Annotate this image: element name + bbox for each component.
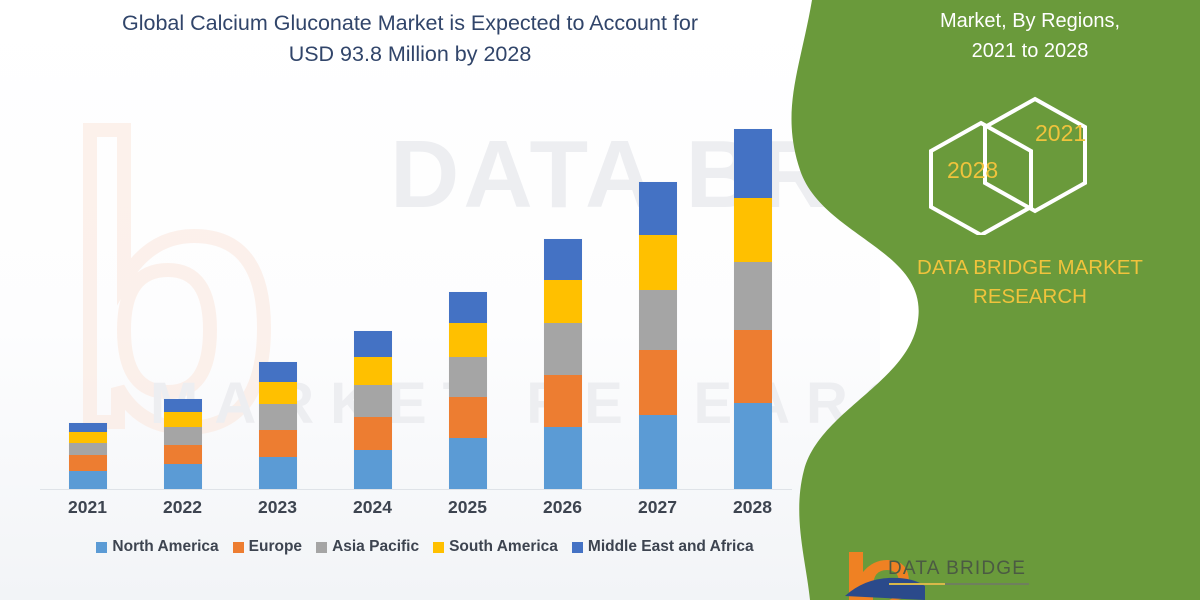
bar-group <box>40 100 800 489</box>
bar-column-2026 <box>518 100 608 489</box>
bar-segment-south-america[interactable] <box>354 357 392 385</box>
bar-segment-europe[interactable] <box>69 455 107 470</box>
bar-segment-europe[interactable] <box>354 417 392 451</box>
x-axis-label-2022: 2022 <box>138 497 228 518</box>
bar-segment-south-america[interactable] <box>639 235 677 290</box>
stacked-bar[interactable] <box>449 292 487 489</box>
bar-segment-middle-east-and-africa[interactable] <box>449 292 487 323</box>
bar-segment-middle-east-and-africa[interactable] <box>354 331 392 358</box>
stacked-bar[interactable] <box>354 331 392 489</box>
bar-segment-north-america[interactable] <box>639 415 677 489</box>
legend-item-south-america[interactable]: South America <box>433 538 558 556</box>
right-panel-heading-line-1: Market, By Regions, <box>940 10 1120 32</box>
legend-item-asia-pacific[interactable]: Asia Pacific <box>316 538 419 556</box>
x-axis-label-2024: 2024 <box>328 497 418 518</box>
x-axis-label-2023: 2023 <box>233 497 323 518</box>
bar-segment-north-america[interactable] <box>544 427 582 489</box>
legend-label: North America <box>112 538 218 556</box>
x-axis-label-2027: 2027 <box>613 497 703 518</box>
bar-segment-middle-east-and-africa[interactable] <box>544 239 582 281</box>
bar-segment-europe[interactable] <box>259 430 297 458</box>
legend-label: South America <box>449 538 558 556</box>
bar-segment-asia-pacific[interactable] <box>544 323 582 375</box>
bar-segment-north-america[interactable] <box>259 457 297 489</box>
hexagon-group: 2021 2028 <box>915 95 1135 235</box>
plot-area <box>40 100 800 490</box>
legend-item-north-america[interactable]: North America <box>96 538 218 556</box>
stacked-bar[interactable] <box>164 399 202 489</box>
x-axis-line <box>40 489 792 490</box>
chart-legend: North AmericaEuropeAsia PacificSouth Ame… <box>40 538 810 556</box>
title-line-1: Global Calcium Gluconate Market is Expec… <box>122 11 698 35</box>
bar-segment-middle-east-and-africa[interactable] <box>164 399 202 412</box>
legend-item-middle-east-and-africa[interactable]: Middle East and Africa <box>572 538 754 556</box>
legend-label: Europe <box>249 538 302 556</box>
bar-segment-middle-east-and-africa[interactable] <box>69 423 107 432</box>
bar-segment-europe[interactable] <box>544 375 582 428</box>
hexagon-label-2028: 2028 <box>947 157 998 184</box>
legend-swatch-icon <box>572 542 583 553</box>
bar-segment-north-america[interactable] <box>449 438 487 489</box>
bar-segment-asia-pacific[interactable] <box>639 290 677 350</box>
bar-segment-middle-east-and-africa[interactable] <box>639 182 677 235</box>
legend-item-europe[interactable]: Europe <box>233 538 302 556</box>
bar-segment-south-america[interactable] <box>164 412 202 427</box>
brand-line-2: RESEARCH <box>973 285 1087 308</box>
legend-swatch-icon <box>96 542 107 553</box>
bar-segment-north-america[interactable] <box>69 471 107 489</box>
legend-label: Asia Pacific <box>332 538 419 556</box>
stacked-bar[interactable] <box>259 362 297 489</box>
chart-panel: DATA BRIDGE MARKET RESEARCH Global Calci… <box>0 0 880 600</box>
bar-segment-asia-pacific[interactable] <box>354 385 392 416</box>
bar-segment-europe[interactable] <box>449 397 487 439</box>
bar-column-2021 <box>43 100 133 489</box>
bar-column-2024 <box>328 100 418 489</box>
stacked-bar[interactable] <box>69 423 107 489</box>
infographic-canvas: DATA BRIDGE MARKET RESEARCH Global Calci… <box>0 0 1200 600</box>
bar-column-2022 <box>138 100 228 489</box>
legend-label: Middle East and Africa <box>588 538 754 556</box>
bar-column-2027 <box>613 100 703 489</box>
bar-segment-north-america[interactable] <box>354 450 392 489</box>
x-axis-label-2021: 2021 <box>43 497 133 518</box>
brand-name: DATA BRIDGE MARKET RESEARCH <box>880 253 1180 311</box>
legend-swatch-icon <box>433 542 444 553</box>
bar-column-2025 <box>423 100 513 489</box>
bar-segment-asia-pacific[interactable] <box>164 427 202 444</box>
x-axis-labels: 20212022202320242025202620272028 <box>40 497 800 518</box>
bar-segment-europe[interactable] <box>639 350 677 415</box>
title-line-2: USD 93.8 Million by 2028 <box>289 42 532 66</box>
legend-swatch-icon <box>316 542 327 553</box>
bar-segment-south-america[interactable] <box>449 323 487 357</box>
bar-segment-asia-pacific[interactable] <box>69 443 107 455</box>
footer-logo-text: DATA BRIDGE <box>888 558 1026 580</box>
x-axis-label-2026: 2026 <box>518 497 608 518</box>
right-panel-heading: Market, By Regions, 2021 to 2028 <box>880 6 1180 66</box>
legend-swatch-icon <box>233 542 244 553</box>
stacked-bar[interactable] <box>544 239 582 489</box>
x-axis-label-2025: 2025 <box>423 497 513 518</box>
brand-line-1: DATA BRIDGE MARKET <box>917 256 1143 279</box>
hexagon-label-2021: 2021 <box>1035 120 1086 147</box>
bar-segment-europe[interactable] <box>164 445 202 465</box>
bar-segment-asia-pacific[interactable] <box>449 357 487 397</box>
page-title: Global Calcium Gluconate Market is Expec… <box>40 8 780 70</box>
bar-segment-south-america[interactable] <box>69 432 107 443</box>
bar-segment-north-america[interactable] <box>164 464 202 489</box>
bar-segment-south-america[interactable] <box>259 382 297 403</box>
right-panel-heading-line-2: 2021 to 2028 <box>972 40 1089 62</box>
bar-column-2023 <box>233 100 323 489</box>
bar-segment-asia-pacific[interactable] <box>259 404 297 430</box>
bar-segment-south-america[interactable] <box>544 280 582 323</box>
bar-segment-middle-east-and-africa[interactable] <box>259 362 297 382</box>
footer-logo-rule <box>889 583 1029 585</box>
stacked-bar[interactable] <box>639 182 677 489</box>
